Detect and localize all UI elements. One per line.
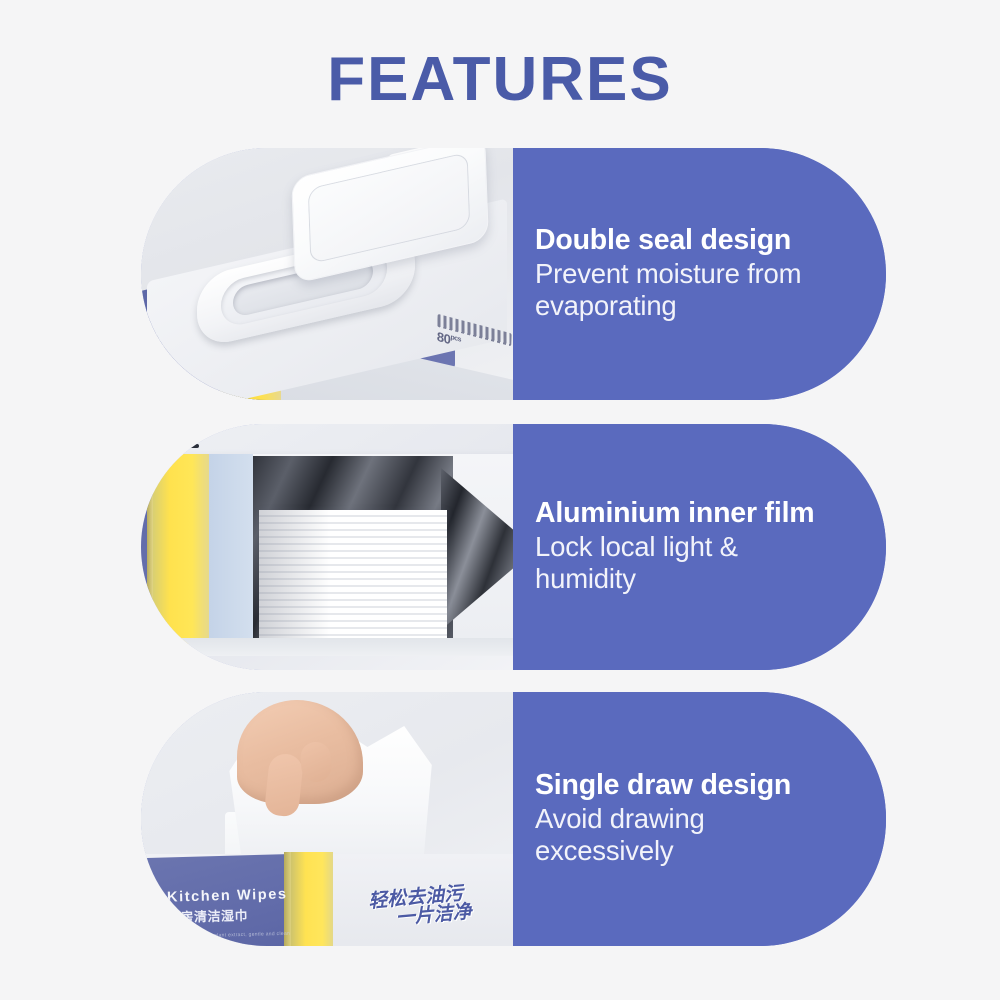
wipes-stack-shading [259,510,447,638]
pack-yellow-stripe [291,852,333,946]
feature-title: Double seal design [535,225,840,257]
pack-brand-label: Kitchen Wipes [167,886,288,905]
feature-text-double-seal: Double seal design Prevent moisture from… [513,148,886,400]
feature-description: Prevent moisture from evaporating [535,258,840,322]
feature-image-double-seal: Wipes 80pcs [141,148,513,400]
feature-image-aluminium-film [141,424,513,670]
quantity-unit: pcs [450,334,461,344]
feature-image-single-draw: Kitchen Wipes 厨房清洁湿巾 natural plant extra… [141,692,513,946]
feature-row-double-seal: Wipes 80pcs Double seal design Prevent m… [141,148,886,400]
feature-row-single-draw: Kitchen Wipes 厨房清洁湿巾 natural plant extra… [141,692,886,946]
feature-text-single-draw: Single draw design Avoid drawing excessi… [513,692,886,946]
feature-description: Avoid drawing excessively [535,803,840,867]
pack-light-blue-panel [209,454,253,644]
pack-lid-edge [143,444,199,448]
feature-description: Lock local light & humidity [535,531,840,595]
page-title: FEATURES [0,44,1000,115]
feature-title: Aluminium inner film [535,498,840,530]
pack-base-edge [141,638,513,656]
pack-brand-label-chinese: 厨房清洁湿巾 [167,905,248,926]
quantity-number: 80 [437,329,451,347]
feature-title: Single draw design [535,770,840,802]
thumb [300,741,333,783]
pack-yellow-stripe [153,454,209,644]
feature-row-aluminium-film: Aluminium inner film Lock local light & … [141,424,886,670]
feature-text-aluminium-film: Aluminium inner film Lock local light & … [513,424,886,670]
